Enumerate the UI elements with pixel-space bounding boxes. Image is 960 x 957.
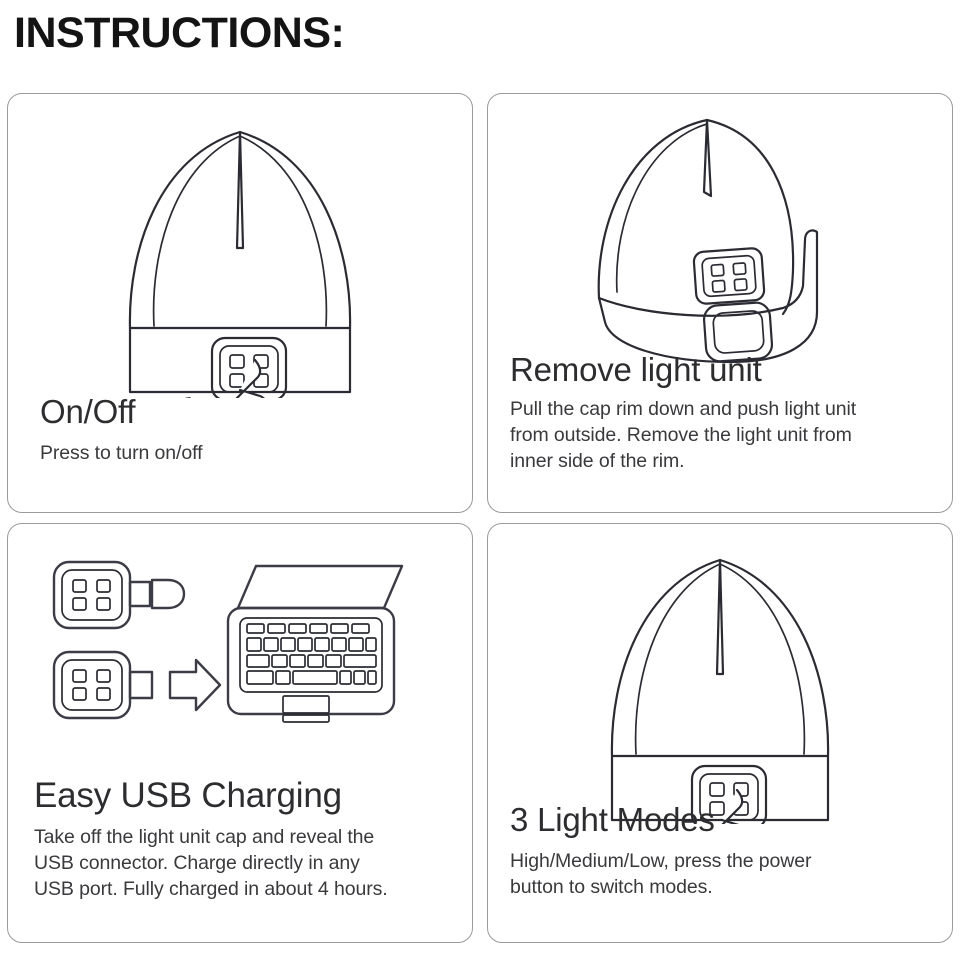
card-text-block: 3 Light Modes High/Medium/Low, press the… xyxy=(510,802,952,901)
card-text-block: Remove light unit Pull the cap rim down … xyxy=(510,352,952,475)
beanie-front-illustration xyxy=(488,524,952,824)
light-unit-with-cap-icon xyxy=(54,562,184,628)
arrow-right-icon xyxy=(170,660,220,710)
card-heading: Remove light unit xyxy=(510,352,952,389)
page-title: INSTRUCTIONS: xyxy=(14,12,344,55)
usb-charging-illustration xyxy=(8,548,472,748)
card-body: High/Medium/Low, press the power button … xyxy=(510,849,952,901)
instruction-card-remove-light-unit[interactable]: Remove light unit Pull the cap rim down … xyxy=(487,93,953,513)
light-unit-icon xyxy=(693,248,764,305)
light-unit-usb-exposed-icon xyxy=(54,652,152,718)
keyboard-rows xyxy=(247,624,376,684)
instruction-card-usb-charging[interactable]: Easy USB Charging Take off the light uni… xyxy=(7,523,473,943)
beanie-crown-icon xyxy=(130,132,350,328)
laptop-icon xyxy=(228,566,402,722)
card-body: Pull the cap rim down and push light uni… xyxy=(510,397,952,475)
card-heading: 3 Light Modes xyxy=(510,802,952,839)
card-text-block: Easy USB Charging Take off the light uni… xyxy=(34,776,472,903)
card-body: Take off the light unit cap and reveal t… xyxy=(34,825,472,903)
card-heading: On/Off xyxy=(40,394,472,431)
card-body: Press to turn on/off xyxy=(40,441,472,467)
instruction-card-light-modes[interactable]: 3 Light Modes High/Medium/Low, press the… xyxy=(487,523,953,943)
beanie-tilted-illustration xyxy=(488,100,952,380)
card-heading: Easy USB Charging xyxy=(34,776,472,815)
card-text-block: On/Off Press to turn on/off xyxy=(40,394,472,467)
instruction-card-on-off[interactable]: On/Off Press to turn on/off xyxy=(7,93,473,513)
light-unit-icon xyxy=(212,338,286,398)
instruction-card-grid: On/Off Press to turn on/off xyxy=(7,93,953,943)
instructions-page: INSTRUCTIONS: xyxy=(0,0,960,957)
beanie-crown-icon xyxy=(612,560,828,756)
beanie-front-illustration xyxy=(8,98,472,398)
